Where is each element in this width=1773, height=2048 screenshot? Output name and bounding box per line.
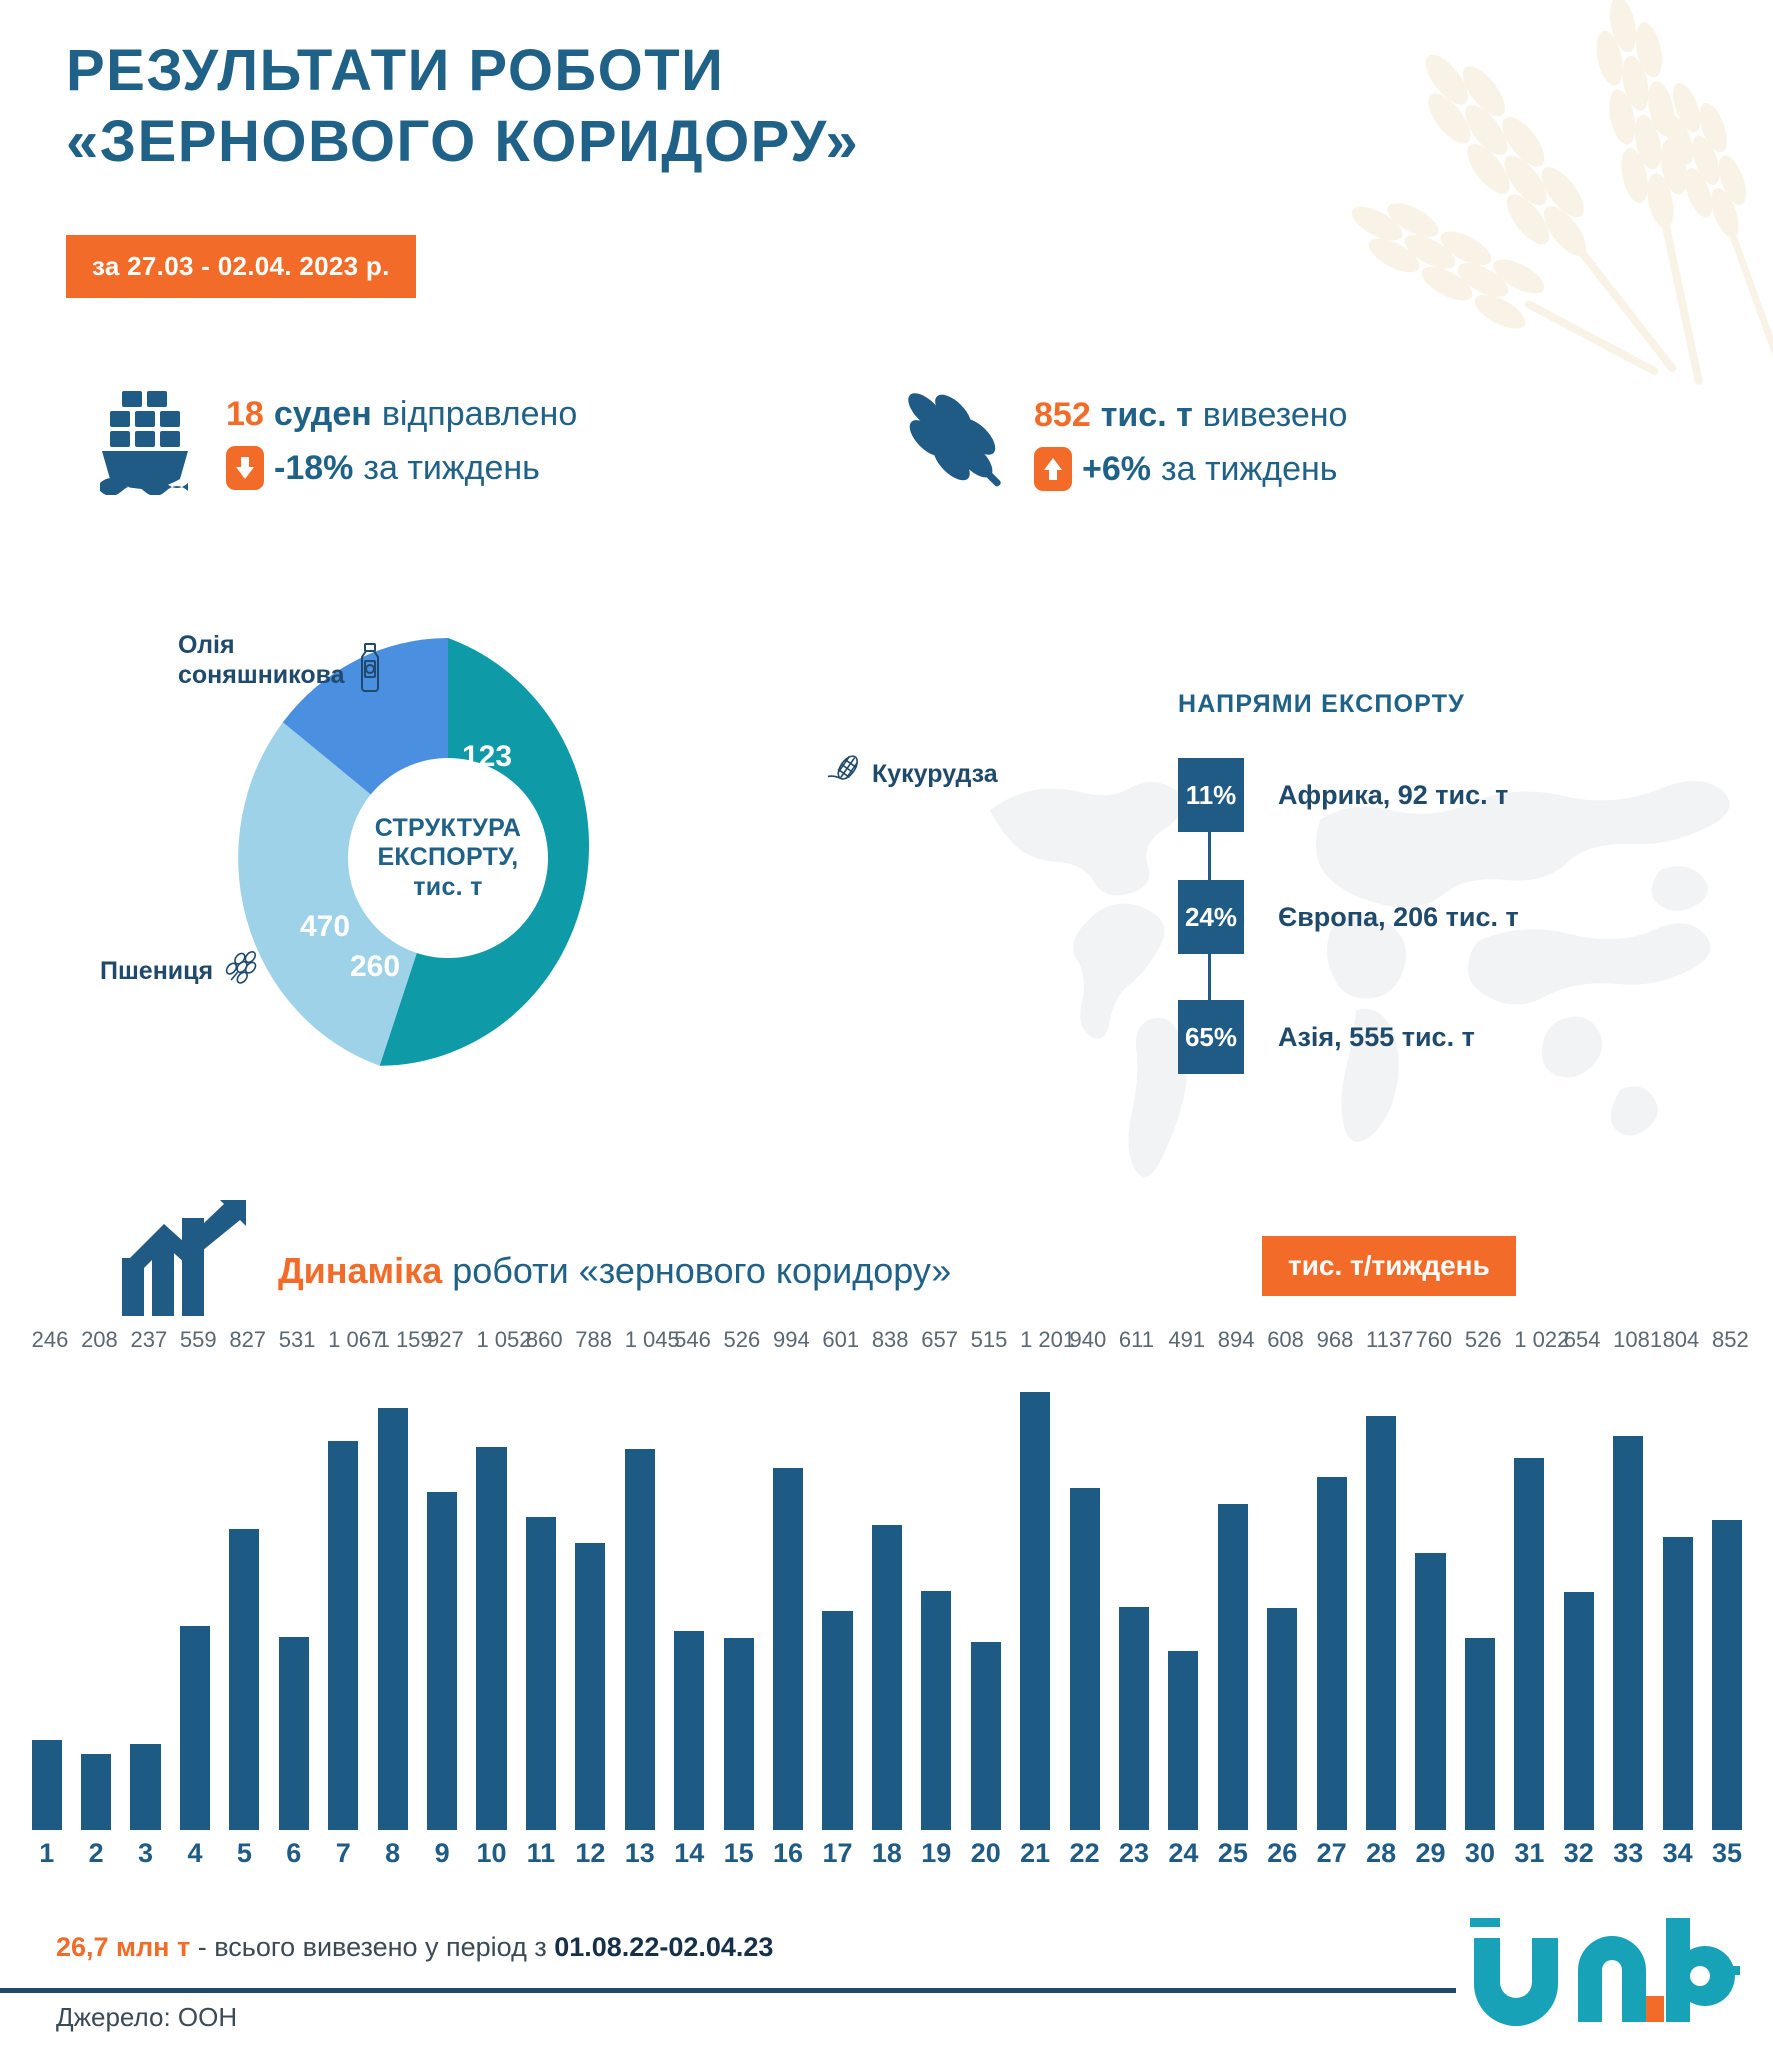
bar-column: 246 xyxy=(22,1360,71,1830)
x-axis-tick: 25 xyxy=(1208,1838,1257,1869)
export-direction-row-africa: 11% Африка, 92 тис. т xyxy=(1178,758,1508,832)
bar-column: 827 xyxy=(220,1360,269,1830)
footer-total-value: 26,7 млн т xyxy=(56,1932,190,1962)
x-axis-tick: 22 xyxy=(1060,1838,1109,1869)
bar-value-label: 526 xyxy=(724,1327,761,1353)
dynamics-title-accent: Динаміка xyxy=(278,1250,442,1291)
kpi-volume-change-value: +6% xyxy=(1082,450,1151,489)
bar-chart-bars: 2462082375598275311 0671 1599271 0528607… xyxy=(22,1360,1752,1830)
bar: 237 xyxy=(130,1744,160,1830)
x-axis-tick: 14 xyxy=(664,1838,713,1869)
bar: 654 xyxy=(1564,1592,1594,1830)
bar-value-label: 1 045 xyxy=(625,1327,680,1353)
x-axis-tick: 24 xyxy=(1159,1838,1208,1869)
x-axis-tick: 17 xyxy=(813,1838,862,1869)
x-axis-tick: 2 xyxy=(71,1838,120,1869)
kpi-volume: 852 тис. т вивезено +6% за тиждень xyxy=(900,385,1347,502)
x-axis-tick: 16 xyxy=(763,1838,812,1869)
bar-column: 1137 xyxy=(1356,1360,1405,1830)
x-axis-tick: 27 xyxy=(1307,1838,1356,1869)
bar-column: 1 159 xyxy=(368,1360,417,1830)
x-axis-tick: 15 xyxy=(714,1838,763,1869)
bar: 1081 xyxy=(1613,1436,1643,1830)
bar-column: 208 xyxy=(71,1360,120,1830)
bar-value-label: 657 xyxy=(921,1327,958,1353)
donut-center-line1: СТРУКТУРА xyxy=(375,814,522,844)
x-axis-tick: 1 xyxy=(22,1838,71,1869)
bar: 1 052 xyxy=(476,1447,506,1830)
donut-label-oil-line2: соняшникова xyxy=(178,660,345,690)
x-axis-tick: 18 xyxy=(862,1838,911,1869)
dynamics-title-rest: роботи «зернового коридору» xyxy=(442,1250,951,1291)
bar-column: 860 xyxy=(516,1360,565,1830)
bar-column: 531 xyxy=(269,1360,318,1830)
bar: 1137 xyxy=(1366,1416,1396,1830)
bar: 246 xyxy=(32,1740,62,1830)
dir-label-asia: Азія, 555 тис. т xyxy=(1278,1022,1475,1053)
bar-column: 927 xyxy=(417,1360,466,1830)
title-line-1: РЕЗУЛЬТАТИ РОБОТИ xyxy=(66,38,724,103)
kpi-ships-period: за тиждень xyxy=(363,449,540,488)
bar-column: 788 xyxy=(566,1360,615,1830)
bar-column: 1 045 xyxy=(615,1360,664,1830)
bar-value-label: 827 xyxy=(229,1327,266,1353)
donut-center-line2: ЕКСПОРТУ, xyxy=(377,843,518,873)
bar-value-label: 608 xyxy=(1267,1327,1304,1353)
bar-column: 515 xyxy=(961,1360,1010,1830)
bar: 927 xyxy=(427,1492,457,1830)
bar-column: 1 022 xyxy=(1505,1360,1554,1830)
bar-value-label: 860 xyxy=(526,1327,563,1353)
date-range-badge: за 27.03 - 02.04. 2023 р. xyxy=(66,235,416,298)
dir-label-europe: Європа, 206 тис. т xyxy=(1278,902,1519,933)
bar: 608 xyxy=(1267,1608,1297,1830)
x-axis-tick: 23 xyxy=(1109,1838,1158,1869)
bar-column: 1 067 xyxy=(319,1360,368,1830)
bar-column: 657 xyxy=(912,1360,961,1830)
bar-column: 608 xyxy=(1258,1360,1307,1830)
growth-chart-icon xyxy=(120,1200,250,1325)
bar-value-label: 760 xyxy=(1415,1327,1452,1353)
kpi-ships-value: 18 xyxy=(226,395,264,434)
arrow-down-icon xyxy=(226,446,264,490)
bar-column: 491 xyxy=(1159,1360,1208,1830)
bar: 1 067 xyxy=(328,1441,358,1830)
wheat-photo-decoration xyxy=(1233,0,1773,390)
bar-value-label: 208 xyxy=(81,1327,118,1353)
bar-value-label: 246 xyxy=(32,1327,69,1353)
ucab-logo xyxy=(1470,1918,1740,2033)
bar: 827 xyxy=(229,1529,259,1830)
kpi-ships-change-value: -18% xyxy=(274,449,353,488)
bar: 838 xyxy=(872,1525,902,1830)
page-title: РЕЗУЛЬТАТИ РОБОТИ «ЗЕРНОВОГО КОРИДОРУ» xyxy=(66,36,859,178)
x-axis-tick: 21 xyxy=(1010,1838,1059,1869)
donut-label-wheat: Пшениця xyxy=(100,948,261,993)
bar: 531 xyxy=(279,1637,309,1830)
bar: 526 xyxy=(1465,1638,1495,1830)
bar-value-label: 559 xyxy=(180,1327,217,1353)
bar-column: 601 xyxy=(813,1360,862,1830)
footer-total-text: - всього вивезено у період з xyxy=(190,1932,554,1962)
bar-value-label: 515 xyxy=(971,1327,1008,1353)
x-axis-tick: 7 xyxy=(319,1838,368,1869)
bar: 1 045 xyxy=(625,1449,655,1830)
x-axis-tick: 29 xyxy=(1406,1838,1455,1869)
wheat-outline-icon xyxy=(223,948,261,993)
bar-value-label: 994 xyxy=(773,1327,810,1353)
kpi-ships: 18 суден відправлено -18% за тиждень xyxy=(100,385,577,500)
bar: 760 xyxy=(1415,1553,1445,1830)
kpi-ships-main: 18 суден відправлено xyxy=(226,395,577,434)
dir-percent-europe: 24% xyxy=(1178,880,1244,954)
arrow-up-icon xyxy=(1034,447,1072,491)
footer-total: 26,7 млн т - всього вивезено у період з … xyxy=(56,1932,773,1963)
bar-value-label: 927 xyxy=(427,1327,464,1353)
bar-value-label: 491 xyxy=(1168,1327,1205,1353)
bar: 491 xyxy=(1168,1651,1198,1830)
dir-percent-africa: 11% xyxy=(1178,758,1244,832)
bar: 994 xyxy=(773,1468,803,1830)
bar: 601 xyxy=(822,1611,852,1830)
donut-label-oil: Олія соняшникова xyxy=(178,630,387,699)
bar: 611 xyxy=(1119,1607,1149,1830)
footer-divider xyxy=(0,1988,1456,1993)
bar-column: 526 xyxy=(1455,1360,1504,1830)
donut-value-wheat: 260 xyxy=(350,950,400,984)
chart-unit-badge: тис. т/тиждень xyxy=(1262,1236,1516,1296)
bar-value-label: 1137 xyxy=(1366,1327,1413,1353)
x-axis-tick: 9 xyxy=(417,1838,466,1869)
export-structure-donut: СТРУКТУРА ЕКСПОРТУ, тис. т xyxy=(238,638,658,1078)
x-axis-tick: 35 xyxy=(1702,1838,1751,1869)
bar-column: 237 xyxy=(121,1360,170,1830)
kpi-ships-verb: відправлено xyxy=(382,395,577,434)
bar-column: 559 xyxy=(170,1360,219,1830)
bar-value-label: 1 201 xyxy=(1020,1327,1075,1353)
x-axis-tick: 30 xyxy=(1455,1838,1504,1869)
bar-value-label: 1 022 xyxy=(1514,1327,1569,1353)
bar-column: 1 052 xyxy=(467,1360,516,1830)
kpi-ships-change: -18% за тиждень xyxy=(226,446,577,490)
dynamics-title: Динаміка роботи «зернового коридору» xyxy=(278,1250,951,1292)
bar-column: 546 xyxy=(664,1360,713,1830)
bar-column: 1 201 xyxy=(1010,1360,1059,1830)
x-axis-tick: 26 xyxy=(1258,1838,1307,1869)
bar-value-label: 1 052 xyxy=(476,1327,531,1353)
bar-column: 852 xyxy=(1702,1360,1751,1830)
bar-value-label: 654 xyxy=(1564,1327,1601,1353)
bar-value-label: 968 xyxy=(1317,1327,1354,1353)
donut-value-oil: 123 xyxy=(462,740,512,774)
bar-value-label: 852 xyxy=(1712,1327,1749,1353)
dir-percent-asia: 65% xyxy=(1178,1000,1244,1074)
x-axis-tick: 11 xyxy=(516,1838,565,1869)
bar-value-label: 1081 xyxy=(1613,1327,1662,1353)
bar-value-label: 838 xyxy=(872,1327,909,1353)
dynamics-bar-chart: 2462082375598275311 0671 1599271 0528607… xyxy=(22,1360,1752,1830)
donut-center-line3: тис. т xyxy=(413,873,482,903)
kpi-ships-unit: суден xyxy=(274,395,372,434)
bar: 968 xyxy=(1317,1477,1347,1830)
bar-column: 1081 xyxy=(1604,1360,1653,1830)
donut-center-label: СТРУКТУРА ЕКСПОРТУ, тис. т xyxy=(350,760,546,956)
bar-value-label: 531 xyxy=(279,1327,316,1353)
kpi-volume-change: +6% за тиждень xyxy=(1034,447,1347,491)
infographic-page: РЕЗУЛЬТАТИ РОБОТИ «ЗЕРНОВОГО КОРИДОРУ» з… xyxy=(0,0,1773,2048)
x-axis-tick: 34 xyxy=(1653,1838,1702,1869)
bar: 526 xyxy=(724,1638,754,1830)
bar-value-label: 526 xyxy=(1465,1327,1502,1353)
bar-column: 968 xyxy=(1307,1360,1356,1830)
donut-value-corn: 470 xyxy=(300,910,350,944)
bar: 1 201 xyxy=(1020,1392,1050,1830)
bar: 804 xyxy=(1663,1537,1693,1830)
donut-label-oil-line1: Олія xyxy=(178,630,345,660)
x-axis-tick: 4 xyxy=(170,1838,219,1869)
export-direction-row-asia: 65% Азія, 555 тис. т xyxy=(1178,1000,1475,1074)
bar-value-label: 237 xyxy=(130,1327,167,1353)
bar-column: 838 xyxy=(862,1360,911,1830)
x-axis-tick: 13 xyxy=(615,1838,664,1869)
x-axis-tick: 3 xyxy=(121,1838,170,1869)
dir-label-africa: Африка, 92 тис. т xyxy=(1278,780,1508,811)
bar: 894 xyxy=(1218,1504,1248,1830)
export-direction-row-europe: 24% Європа, 206 тис. т xyxy=(1178,880,1519,954)
bar-column: 940 xyxy=(1060,1360,1109,1830)
bar-column: 894 xyxy=(1208,1360,1257,1830)
bar: 559 xyxy=(180,1626,210,1830)
x-axis-tick: 5 xyxy=(220,1838,269,1869)
x-axis-tick: 6 xyxy=(269,1838,318,1869)
bar-column: 654 xyxy=(1554,1360,1603,1830)
bar: 852 xyxy=(1712,1520,1742,1830)
x-axis-tick: 8 xyxy=(368,1838,417,1869)
x-axis-tick: 32 xyxy=(1554,1838,1603,1869)
footer-source: Джерело: ООН xyxy=(56,2002,237,2033)
bar-column: 526 xyxy=(714,1360,763,1830)
bar-value-label: 611 xyxy=(1119,1327,1154,1353)
x-axis-tick: 31 xyxy=(1505,1838,1554,1869)
title-line-2: «ЗЕРНОВОГО КОРИДОРУ» xyxy=(66,107,859,178)
bar: 546 xyxy=(674,1631,704,1830)
kpi-volume-verb: вивезено xyxy=(1203,396,1348,435)
bar-value-label: 804 xyxy=(1663,1327,1700,1353)
kpi-volume-period: за тиждень xyxy=(1161,450,1338,489)
corn-cob-icon xyxy=(828,752,864,795)
bar: 657 xyxy=(921,1591,951,1830)
bar-value-label: 601 xyxy=(822,1327,859,1353)
bar-value-label: 894 xyxy=(1218,1327,1255,1353)
bar-value-label: 788 xyxy=(575,1327,612,1353)
bar: 1 159 xyxy=(378,1408,408,1830)
donut-label-wheat-text: Пшениця xyxy=(100,956,213,986)
bar-value-label: 546 xyxy=(674,1327,711,1353)
bar-column: 804 xyxy=(1653,1360,1702,1830)
bar-value-label: 1 159 xyxy=(378,1327,433,1353)
bar-chart-x-axis: 1234567891011121314151617181920212223242… xyxy=(22,1838,1752,1869)
bar-column: 611 xyxy=(1109,1360,1158,1830)
bar: 788 xyxy=(575,1543,605,1830)
x-axis-tick: 28 xyxy=(1356,1838,1405,1869)
bar: 1 022 xyxy=(1514,1458,1544,1830)
x-axis-tick: 33 xyxy=(1604,1838,1653,1869)
bar-value-label: 940 xyxy=(1070,1327,1107,1353)
x-axis-tick: 20 xyxy=(961,1838,1010,1869)
x-axis-tick: 12 xyxy=(566,1838,615,1869)
kpi-volume-value: 852 xyxy=(1034,396,1091,435)
export-directions-title: НАПРЯМИ ЕКСПОРТУ xyxy=(1178,690,1465,719)
bar: 860 xyxy=(526,1517,556,1830)
bar-column: 760 xyxy=(1406,1360,1455,1830)
footer-total-period: 01.08.22-02.04.23 xyxy=(554,1932,773,1962)
bar: 208 xyxy=(81,1754,111,1830)
bar-value-label: 1 067 xyxy=(328,1327,383,1353)
wheat-ear-icon xyxy=(900,385,1012,502)
bar: 515 xyxy=(971,1642,1001,1830)
kpi-volume-unit: тис. т xyxy=(1101,396,1193,435)
ship-icon xyxy=(100,385,204,500)
bar-column: 994 xyxy=(763,1360,812,1830)
kpi-volume-main: 852 тис. т вивезено xyxy=(1034,396,1347,435)
x-axis-tick: 10 xyxy=(467,1838,516,1869)
bar: 940 xyxy=(1070,1488,1100,1830)
x-axis-tick: 19 xyxy=(912,1838,961,1869)
oil-bottle-icon xyxy=(353,642,387,699)
